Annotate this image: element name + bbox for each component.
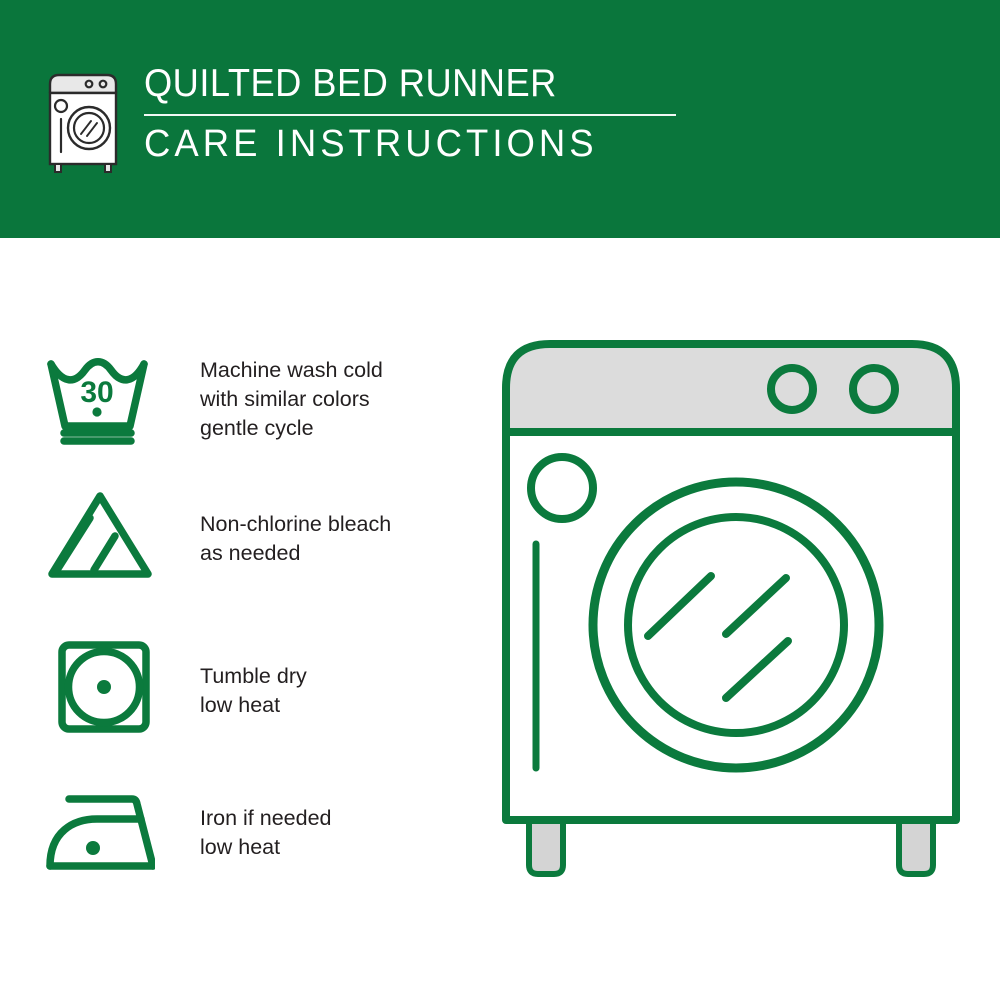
care-text-bleach: Non-chlorine bleach as needed xyxy=(200,488,391,568)
care-row-wash: 30 Machine wash cold with similar colors… xyxy=(0,350,470,445)
tumble-dry-low-heat-icon xyxy=(45,638,155,733)
control-panel xyxy=(506,344,956,432)
front-load-washing-machine-illustration xyxy=(498,336,970,926)
care-instructions-card: QUILTED BED RUNNER CARE INSTRUCTIONS xyxy=(0,0,1000,1000)
wash-temperature-label: 30 xyxy=(80,376,113,409)
care-text-wash: Machine wash cold with similar colors ge… xyxy=(200,350,383,443)
care-text-iron: Iron if needed low heat xyxy=(200,786,332,862)
care-row-bleach: Non-chlorine bleach as needed xyxy=(0,488,470,583)
header-text-block: QUILTED BED RUNNER CARE INSTRUCTIONS xyxy=(144,62,744,166)
care-row-iron: Iron if needed low heat xyxy=(0,786,470,881)
page-title: QUILTED BED RUNNER xyxy=(144,62,702,106)
care-row-tumble-dry: Tumble dry low heat xyxy=(0,638,470,733)
header-banner: QUILTED BED RUNNER CARE INSTRUCTIONS xyxy=(0,0,1000,238)
washing-machine-icon xyxy=(46,64,120,176)
title-divider xyxy=(144,114,676,116)
wash-tub-30-gentle-icon: 30 xyxy=(45,350,155,445)
care-instruction-list: 30 Machine wash cold with similar colors… xyxy=(0,238,470,1000)
bleach-triangle-non-chlorine-icon xyxy=(45,488,155,583)
care-text-tumble-dry: Tumble dry low heat xyxy=(200,638,307,720)
header-content: QUILTED BED RUNNER CARE INSTRUCTIONS xyxy=(46,62,746,182)
iron-low-heat-icon xyxy=(45,786,155,881)
page-subtitle: CARE INSTRUCTIONS xyxy=(144,123,720,166)
washer-legs xyxy=(529,818,933,874)
